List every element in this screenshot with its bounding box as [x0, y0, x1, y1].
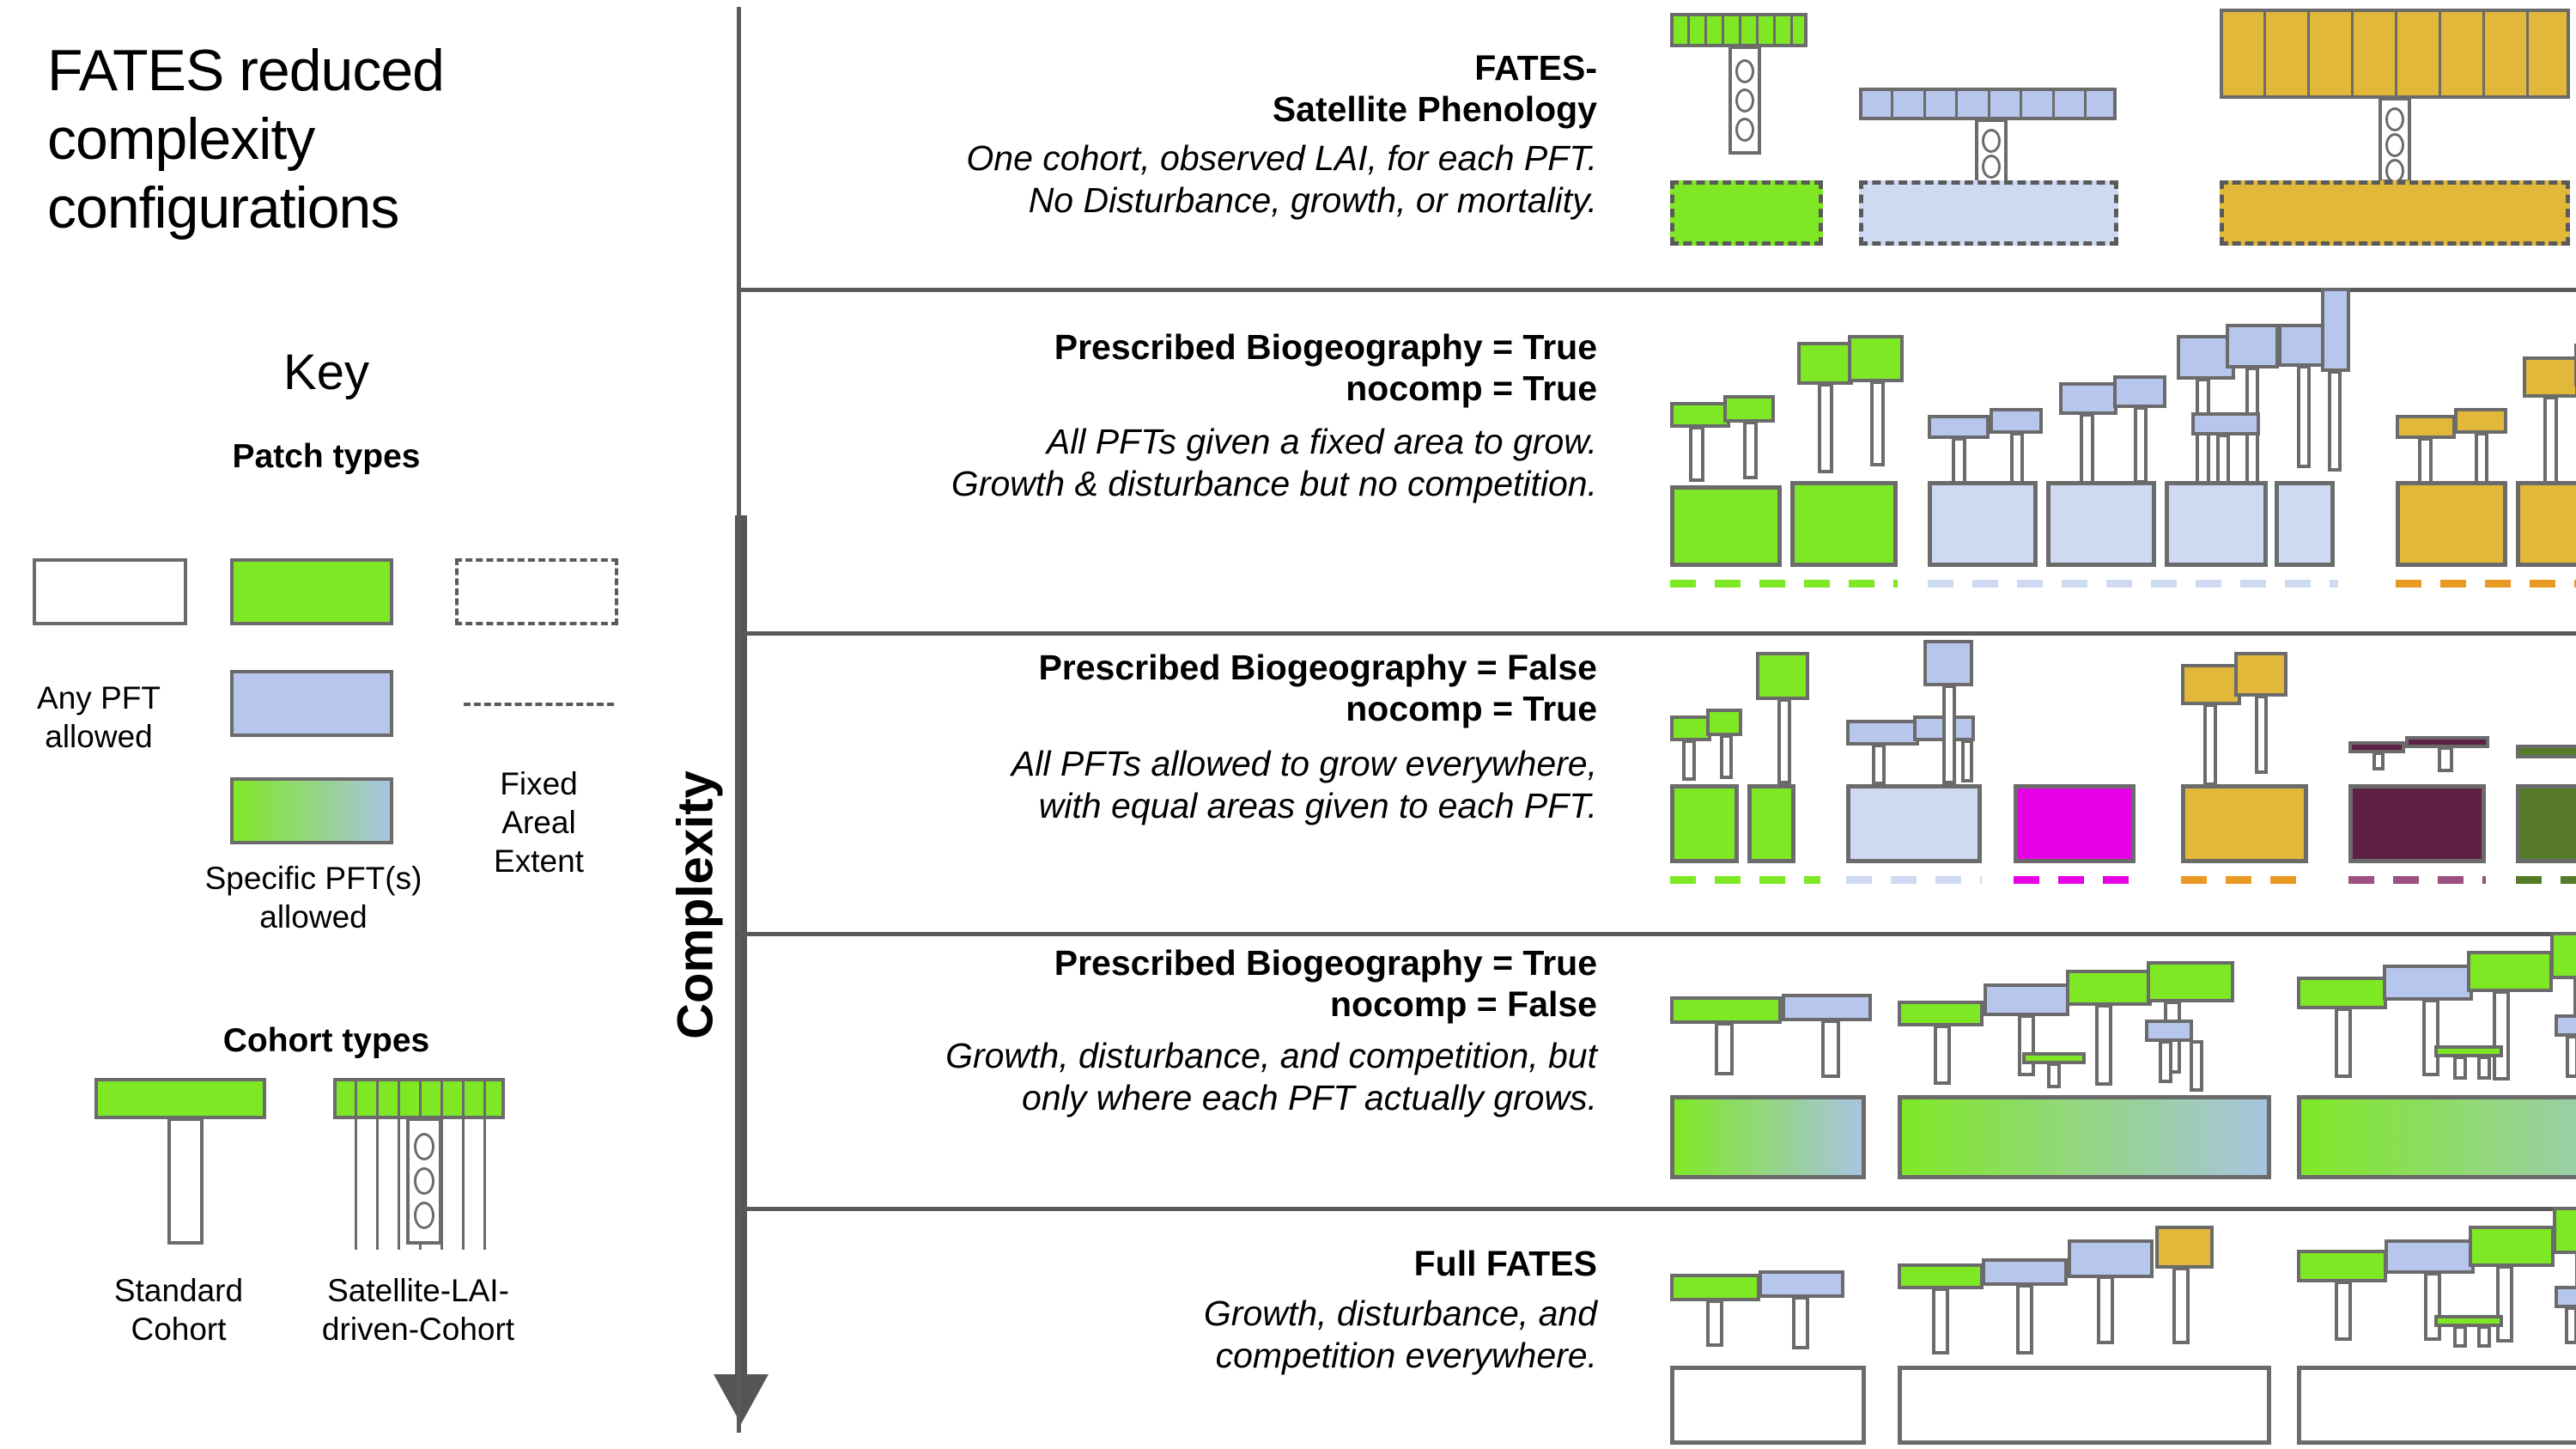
stand-group [2181, 631, 2318, 932]
row-subtitle: All PFTs allowed to grow everywhere, wit… [738, 743, 1597, 827]
patch [2396, 481, 2507, 567]
left-legend-panel: FATES reduced complexity configurations … [0, 0, 704, 1449]
stand-group [1898, 932, 2275, 1207]
patch [2275, 481, 2335, 567]
fixed-extent-underline [2014, 876, 2136, 884]
fixed-extent-underline [1670, 580, 1898, 588]
stand-group [2516, 631, 2576, 932]
fixed-extent-underline [1846, 876, 1982, 884]
legend-specific-pft-label: Specific PFT(s) allowed [180, 859, 447, 936]
patch [1790, 481, 1898, 567]
patch [2165, 481, 2268, 567]
row-title: Prescribed Biogeography = True nocomp = … [790, 942, 1597, 1026]
patch [2181, 784, 2308, 863]
config-row-prescribed-biogeo-true-nocomp-false: Prescribed Biogeography = True nocomp = … [738, 932, 2576, 1207]
patch [2516, 481, 2576, 567]
stand-group [2297, 932, 2576, 1207]
row-title: Prescribed Biogeography = False nocomp =… [790, 647, 1597, 730]
patch [1898, 1366, 2271, 1445]
config-row-full-fates: Full FATES Growth, disturbance, and comp… [738, 1207, 2576, 1449]
stand-group [1670, 1207, 1876, 1449]
row-title: Full FATES [790, 1243, 1597, 1284]
config-row-prescribed-biogeo-false-nocomp-true: Prescribed Biogeography = False nocomp =… [738, 631, 2576, 932]
standard-cohort-glyph [94, 1078, 283, 1250]
stand-group [1859, 9, 2151, 283]
fixed-extent-underline [1928, 580, 2338, 588]
patch [1670, 485, 1782, 567]
patch [1846, 784, 1982, 863]
complexity-axis-label: Complexity [667, 579, 725, 1232]
legend-any-pft-label: Any PFT allowed [0, 679, 202, 756]
legend-swatch-any-pft [33, 558, 187, 625]
legend-fixed-areal-label: Fixed Areal Extent [481, 764, 597, 880]
legend-swatch-fixed-areal-box [455, 558, 618, 625]
fixed-extent-underline [1670, 876, 1820, 884]
key-heading: Key [0, 344, 653, 401]
stand-group [2348, 631, 2486, 932]
patch [1859, 180, 2118, 246]
row-title: Prescribed Biogeography = True nocomp = … [790, 326, 1597, 410]
fixed-extent-underline [2181, 876, 2308, 884]
patch [1898, 1095, 2271, 1179]
patch [2014, 784, 2136, 863]
config-row-fates-satellite-phenology: FATES- Satellite Phenology One cohort, o… [738, 0, 2576, 288]
row-subtitle: One cohort, observed LAI, for each PFT. … [756, 137, 1597, 222]
patch [1670, 784, 1739, 863]
standard-cohort-label: Standard Cohort [76, 1271, 282, 1349]
patch [2046, 481, 2156, 567]
patch [2220, 180, 2570, 246]
stand-group [2297, 1207, 2576, 1449]
stand-group [1928, 288, 2383, 631]
config-row-prescribed-biogeo-true-nocomp-true: Prescribed Biogeography = True nocomp = … [738, 288, 2576, 631]
fixed-extent-underline [2348, 876, 2486, 884]
satellite-cohort-label: Satellite-LAI-driven-Cohort [319, 1271, 517, 1349]
satellite-cohort-glyph [333, 1078, 522, 1250]
stand-group [2396, 288, 2576, 631]
stand-group [2220, 9, 2576, 283]
legend-swatch-blue-pft [230, 670, 393, 737]
stand-group [1670, 288, 1919, 631]
fixed-extent-underline [2516, 876, 2576, 884]
patch [1747, 784, 1795, 863]
legend-swatch-gradient-pft [230, 777, 393, 844]
stand-group [1670, 631, 1838, 932]
patch [2297, 1095, 2576, 1179]
patch [1928, 481, 2038, 567]
stand-group [1898, 1207, 2275, 1449]
page-title: FATES reduced complexity configurations [47, 36, 648, 243]
legend-swatch-green-pft [230, 558, 393, 625]
stand-group [1846, 631, 1988, 932]
stand-group [2014, 631, 2138, 932]
patch [2297, 1366, 2576, 1445]
patch [2516, 784, 2576, 863]
stand-group [1670, 932, 1876, 1207]
patch [1670, 180, 1823, 246]
row-subtitle: Growth, disturbance, and competition eve… [790, 1293, 1597, 1377]
patch [1670, 1095, 1866, 1179]
patch-types-heading: Patch types [0, 438, 653, 476]
legend-fixed-areal-dashline [464, 703, 614, 706]
patch [2348, 784, 2486, 863]
cohort-types-heading: Cohort types [0, 1022, 653, 1060]
row-subtitle: Growth, disturbance, and competition, bu… [721, 1035, 1597, 1119]
row-title: FATES- Satellite Phenology [790, 47, 1597, 131]
fixed-extent-underline [2396, 580, 2576, 588]
patch [1670, 1366, 1866, 1445]
row-subtitle: All PFTs given a fixed area to grow. Gro… [738, 421, 1597, 505]
